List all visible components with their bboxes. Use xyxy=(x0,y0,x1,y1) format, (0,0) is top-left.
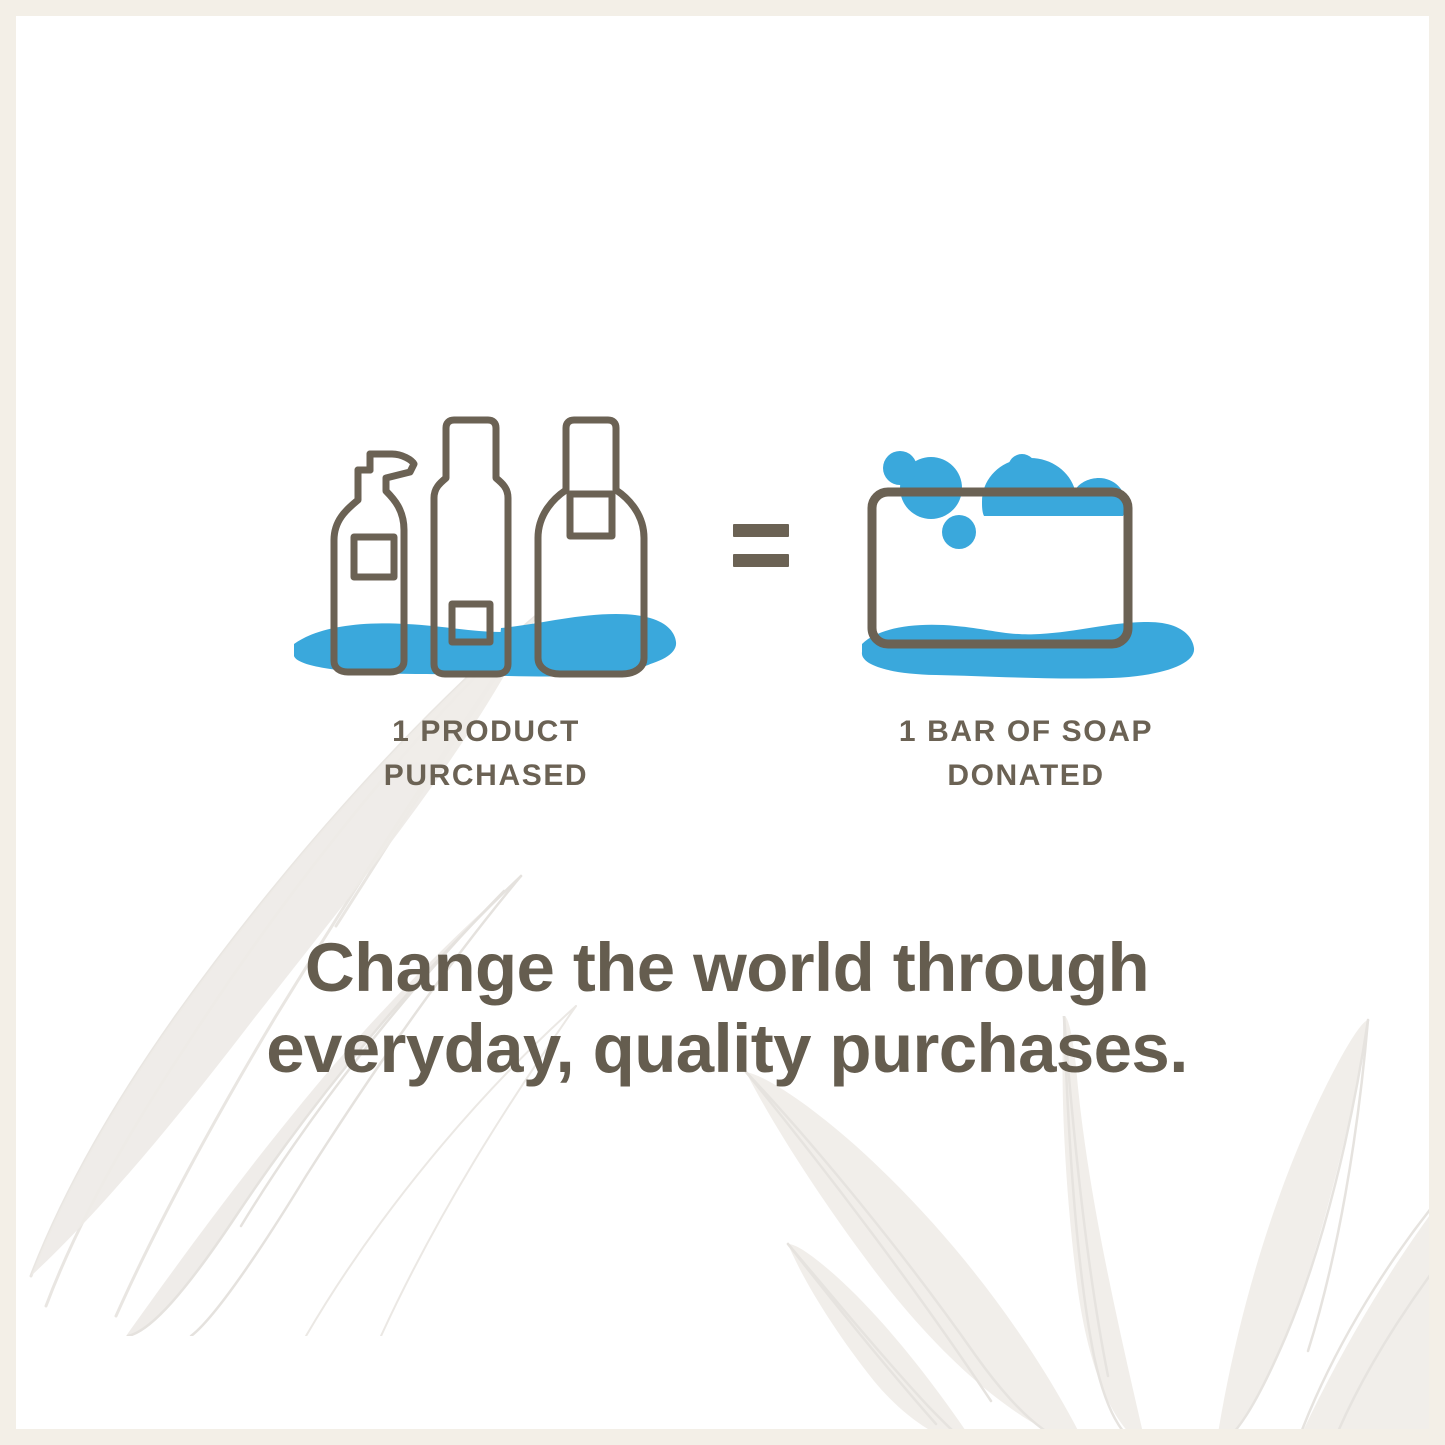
three-bottles-icon xyxy=(286,406,686,696)
equals-bar-bottom xyxy=(733,554,789,567)
caption-left-line-1: 1 PRODUCT xyxy=(271,710,701,754)
icon-equation-row xyxy=(16,406,1429,696)
bar-of-soap-icon xyxy=(856,446,1196,696)
caption-right-line-2: DONATED xyxy=(836,754,1216,798)
equals-sign xyxy=(733,514,789,576)
infographic-stage: 1 PRODUCT PURCHASED 1 BAR OF SOAP DONATE… xyxy=(0,0,1445,1445)
equals-bar-top xyxy=(733,524,789,537)
infographic-canvas: 1 PRODUCT PURCHASED 1 BAR OF SOAP DONATE… xyxy=(16,16,1429,1429)
headline-line-1: Change the world through xyxy=(112,928,1342,1009)
caption-product-purchased: 1 PRODUCT PURCHASED xyxy=(271,710,701,799)
caption-left-line-2: PURCHASED xyxy=(271,754,701,798)
headline: Change the world through everyday, quali… xyxy=(112,928,1342,1089)
caption-right-line-1: 1 BAR OF SOAP xyxy=(836,710,1216,754)
caption-soap-donated: 1 BAR OF SOAP DONATED xyxy=(836,710,1216,799)
headline-line-2: everyday, quality purchases. xyxy=(112,1009,1342,1090)
